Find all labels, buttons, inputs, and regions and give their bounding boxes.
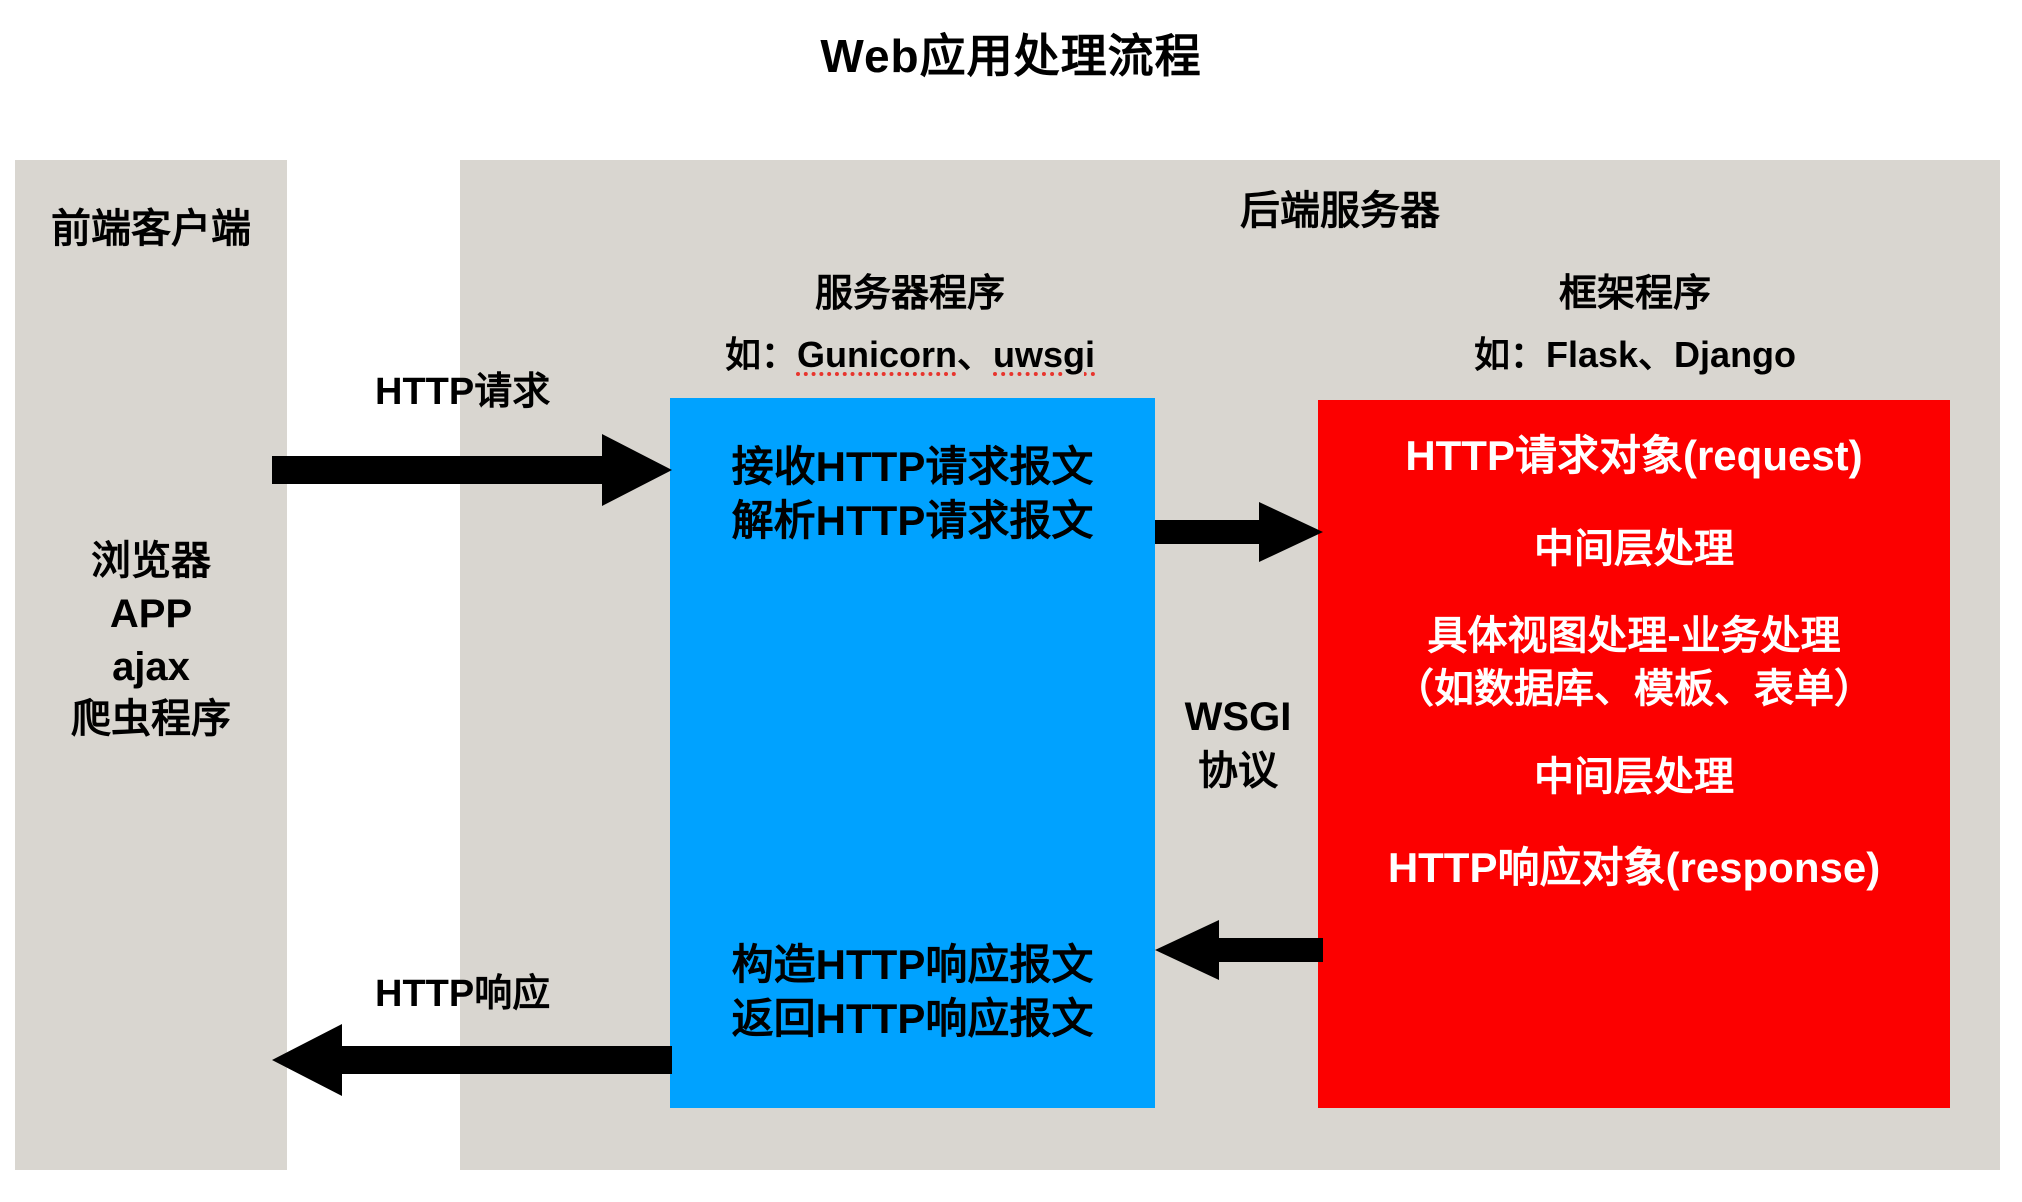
- wsgi-request-arrow-icon: [1155, 500, 1323, 564]
- server-example-prefix: 如：: [725, 334, 797, 375]
- wsgi-label-line-1: WSGI: [1163, 690, 1313, 744]
- framework-example-separator: 、: [1638, 334, 1674, 375]
- framework-example-django: Django: [1674, 334, 1796, 375]
- server-line-build: 构造HTTP响应报文: [670, 938, 1155, 992]
- wsgi-protocol-label: WSGI 协议: [1163, 690, 1313, 798]
- backend-panel-heading: 后端服务器: [1060, 178, 1620, 236]
- server-line-receive: 接收HTTP请求报文: [670, 440, 1155, 494]
- framework-example-flask: Flask: [1546, 334, 1638, 375]
- server-program-examples: 如：Gunicorn、uwsgi: [660, 326, 1160, 378]
- wsgi-response-arrow-icon: [1155, 918, 1323, 982]
- client-item-browser: 浏览器: [15, 535, 287, 588]
- server-example-uwsgi: uwsgi: [993, 334, 1095, 375]
- wsgi-label-line-2: 协议: [1163, 744, 1313, 798]
- client-item-ajax: ajax: [15, 641, 287, 694]
- frontend-panel-heading: 前端客户端: [15, 196, 287, 254]
- server-example-gunicorn: Gunicorn: [797, 334, 957, 375]
- framework-view-line-2: （如数据库、模板、表单）: [1318, 663, 1950, 716]
- framework-request-object: HTTP请求对象(request): [1318, 422, 1950, 483]
- framework-example-prefix: 如：: [1474, 334, 1546, 375]
- framework-response-object: HTTP响应对象(response): [1318, 834, 1950, 895]
- server-example-separator: 、: [957, 334, 993, 375]
- client-item-app: APP: [15, 588, 287, 641]
- server-line-parse: 解析HTTP请求报文: [670, 494, 1155, 548]
- framework-program-box: HTTP请求对象(request) 中间层处理 具体视图处理-业务处理 （如数据…: [1318, 400, 1950, 1108]
- server-box-receive-parse: 接收HTTP请求报文 解析HTTP请求报文: [670, 440, 1155, 548]
- server-program-heading: 服务器程序: [660, 262, 1160, 317]
- page-title: Web应用处理流程: [0, 20, 2022, 86]
- framework-middleware-bottom: 中间层处理: [1318, 744, 1950, 802]
- http-response-arrow-label: HTTP响应: [375, 962, 550, 1017]
- framework-view-line-1: 具体视图处理-业务处理: [1318, 610, 1950, 663]
- server-program-box: 接收HTTP请求报文 解析HTTP请求报文 构造HTTP响应报文 返回HTTP响…: [670, 398, 1155, 1108]
- http-request-arrow-label: HTTP请求: [375, 360, 550, 415]
- framework-program-examples: 如：Flask、Django: [1320, 326, 1950, 378]
- http-request-arrow-icon: [272, 430, 672, 510]
- diagram-canvas: Web应用处理流程 前端客户端 后端服务器 浏览器 APP ajax 爬虫程序 …: [0, 0, 2022, 1202]
- client-item-crawler: 爬虫程序: [15, 693, 287, 746]
- server-line-return: 返回HTTP响应报文: [670, 992, 1155, 1046]
- framework-middleware-top: 中间层处理: [1318, 516, 1950, 574]
- panel-gap: [287, 160, 460, 1170]
- framework-view-processing: 具体视图处理-业务处理 （如数据库、模板、表单）: [1318, 610, 1950, 716]
- server-box-build-return: 构造HTTP响应报文 返回HTTP响应报文: [670, 938, 1155, 1046]
- client-type-list: 浏览器 APP ajax 爬虫程序: [15, 535, 287, 746]
- http-response-arrow-icon: [272, 1020, 672, 1100]
- framework-program-heading: 框架程序: [1320, 262, 1950, 317]
